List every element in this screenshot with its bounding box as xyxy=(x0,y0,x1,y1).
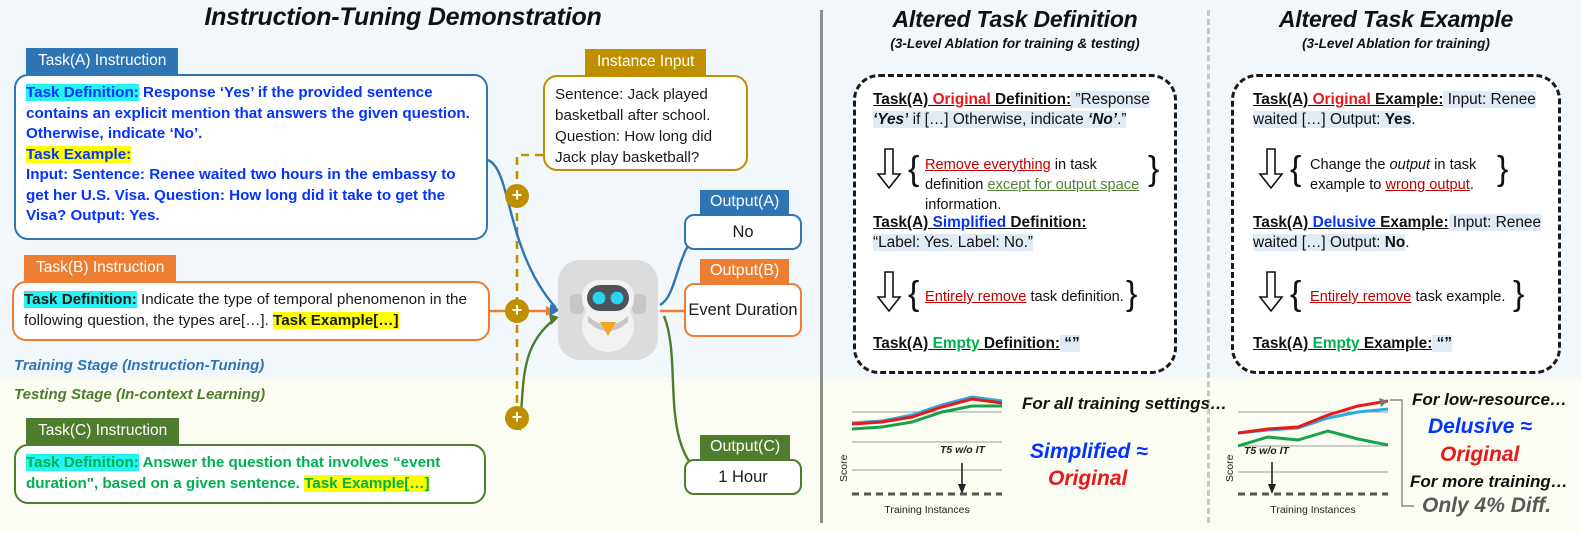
example-op-2-a: Entirely remove xyxy=(1310,289,1411,305)
example-chart-xlabel: Training Instances xyxy=(1238,504,1388,516)
definition-op-1: Remove everything in task definition exc… xyxy=(925,155,1149,215)
task-a-input-label: Input: xyxy=(26,166,68,183)
example-arrow-2-icon xyxy=(1258,271,1284,318)
output-a-tab: Output(A) xyxy=(700,190,789,215)
panel-divider-2 xyxy=(1207,10,1210,523)
task-a-card: Task Definition: Response ‘Yes’ if the p… xyxy=(14,74,488,240)
example-panel-subtitle: (3-Level Ablation for training) xyxy=(1215,36,1577,51)
example-op-1-a: Change the xyxy=(1310,157,1390,173)
definition-op-2-b: task definition. xyxy=(1026,289,1123,305)
definition-op-2: Entirely remove task definition. xyxy=(925,287,1135,307)
definition-level-1: Task(A) Original Definition: ”Response ‘… xyxy=(873,90,1165,130)
output-b-tab: Output(B) xyxy=(700,259,789,284)
definition-level-2-quote: “Label: Yes. Label: No.” xyxy=(873,234,1033,251)
definition-level-2-prefix: Task(A) xyxy=(873,214,933,231)
task-c-card: Task Definition: Answer the question tha… xyxy=(14,444,486,504)
definition-arrow-1-icon xyxy=(876,148,902,195)
output-b-box: Event Duration xyxy=(684,283,802,337)
definition-panel-title: Altered Task Definition xyxy=(828,6,1202,33)
task-a-yes: ‘Yes’ xyxy=(220,84,254,101)
definition-level-3-suffix: Definition: xyxy=(980,335,1060,352)
definition-op-1-a: Remove everything xyxy=(925,157,1051,173)
example-level-1: Task(A) Original Example: Input: Renee w… xyxy=(1253,90,1549,130)
definition-level-2-suffix: Definition: xyxy=(1006,214,1086,231)
example-conclusion-line-1: For low-resource… xyxy=(1412,390,1567,410)
robot-model-icon xyxy=(556,258,660,362)
definition-level-1-quote-e: .” xyxy=(1117,111,1126,128)
example-level-3-prefix: Task(A) xyxy=(1253,335,1313,352)
definition-op-2-a: Entirely remove xyxy=(925,289,1026,305)
example-level-2-keyword: Delusive xyxy=(1313,214,1376,231)
example-level-3: Task(A) Empty Example: “” xyxy=(1253,334,1549,354)
example-level-1-suffix: Example: xyxy=(1371,91,1444,108)
example-level-3-keyword: Empty xyxy=(1313,335,1360,352)
plus-node-b[interactable]: + xyxy=(505,299,529,323)
instance-input-tab: Instance Input xyxy=(585,49,706,75)
definition-level-1-suffix: Definition: xyxy=(991,91,1071,108)
definition-level-2: Task(A) Simplified Definition: “Label: Y… xyxy=(873,213,1165,253)
example-panel-title: Altered Task Example xyxy=(1215,6,1577,33)
example-op-1-b: output xyxy=(1390,157,1431,173)
definition-level-2-keyword: Simplified xyxy=(933,214,1007,231)
definition-level-1-quote-c: if […] Otherwise, indicate xyxy=(908,111,1088,128)
instance-input-text: Sentence: Jack played basketball after s… xyxy=(555,86,712,166)
example-level-1-quote-b: Yes xyxy=(1385,111,1412,128)
task-a-tab: Task(A) Instruction xyxy=(26,48,178,74)
task-a-output-label: Output: xyxy=(70,207,125,224)
definition-conclusion-line-1: For all training settings… xyxy=(1022,394,1227,414)
example-conclusion-word-2: Original xyxy=(1440,443,1519,467)
example-level-1-keyword: Original xyxy=(1313,91,1371,108)
definition-level-3-keyword: Empty xyxy=(933,335,980,352)
example-op-1: Change the output in task example to wro… xyxy=(1310,155,1500,195)
example-op-2: Entirely remove task example. xyxy=(1310,287,1520,307)
definition-brace-2-left: { xyxy=(908,277,919,311)
task-a-example-label: Task Example: xyxy=(26,146,131,163)
task-b-tab: Task(B) Instruction xyxy=(24,255,176,281)
definition-conclusion-word-2: Original xyxy=(1048,467,1127,491)
output-c-tab: Output(C) xyxy=(700,435,790,460)
definition-chart: Score T5 w/o IT Training Instances xyxy=(836,390,1014,520)
output-c-box: 1 Hour xyxy=(684,459,802,495)
definition-brace-1-right: } xyxy=(1148,152,1159,186)
definition-brace-1-left: { xyxy=(908,152,919,186)
definition-level-3-quote: “” xyxy=(1060,335,1080,352)
example-chart-annotation: T5 w/o IT xyxy=(1244,445,1289,457)
example-brace-1-left: { xyxy=(1290,152,1301,186)
definition-level-3: Task(A) Empty Definition: “” xyxy=(873,334,1165,354)
definition-panel-subtitle: (3-Level Ablation for training & testing… xyxy=(828,36,1202,51)
output-a-box: No xyxy=(684,214,802,250)
definition-chart-ylabel: Score xyxy=(838,455,850,482)
task-a-definition-text-1: Response xyxy=(139,84,220,101)
example-op-1-d: wrong output xyxy=(1385,177,1469,193)
example-conclusion-word-1: Delusive ≈ xyxy=(1428,415,1532,439)
definition-level-3-prefix: Task(A) xyxy=(873,335,933,352)
plus-node-c[interactable]: + xyxy=(505,406,529,430)
example-level-1-quote-c: . xyxy=(1411,111,1415,128)
example-arrow-1-icon xyxy=(1258,148,1284,195)
task-a-definition-label: Task Definition: xyxy=(26,84,139,101)
task-a-definition-text-3: . xyxy=(198,125,202,142)
example-brace-2-left: { xyxy=(1290,277,1301,311)
definition-conclusion-word-1: Simplified ≈ xyxy=(1030,440,1148,464)
example-chart-ylabel: Score xyxy=(1224,455,1236,482)
instance-input-card: Sentence: Jack played basketball after s… xyxy=(543,75,748,171)
definition-arrow-2-icon xyxy=(876,271,902,318)
example-level-2-suffix: Example: xyxy=(1376,214,1449,231)
example-level-2-prefix: Task(A) xyxy=(1253,214,1313,231)
task-b-example-label: Task Example[…] xyxy=(273,312,398,329)
example-conclusion-line-2: For more training… xyxy=(1410,472,1568,492)
panel-divider-1 xyxy=(820,10,823,523)
task-b-definition-label: Task Definition: xyxy=(24,291,137,308)
example-level-1-prefix: Task(A) xyxy=(1253,91,1313,108)
task-a-output-text: Yes. xyxy=(125,207,159,224)
definition-level-1-prefix: Task(A) xyxy=(873,91,933,108)
example-level-3-quote: “” xyxy=(1432,335,1452,352)
definition-op-1-c: except for output space xyxy=(987,177,1139,193)
definition-level-1-quote-a: ”Response xyxy=(1071,91,1150,108)
definition-chart-xlabel: Training Instances xyxy=(852,504,1002,516)
definition-level-1-quote-b: ‘Yes’ xyxy=(873,111,908,128)
example-level-3-suffix: Example: xyxy=(1360,335,1433,352)
example-level-2: Task(A) Delusive Example: Input: Renee w… xyxy=(1253,213,1549,253)
task-b-card: Task Definition: Indicate the type of te… xyxy=(12,281,490,341)
task-c-definition-label: Task Definition: xyxy=(26,454,139,471)
example-level-2-quote-c: . xyxy=(1405,234,1409,251)
definition-op-1-d: information. xyxy=(925,197,1001,213)
example-op-2-b: task example. xyxy=(1411,289,1505,305)
example-level-2-quote-b: No xyxy=(1385,234,1406,251)
example-chart: Score T5 w/o IT Training Instances xyxy=(1222,390,1400,520)
task-c-tab: Task(C) Instruction xyxy=(26,418,179,444)
definition-level-1-quote-d: ‘No’ xyxy=(1088,111,1117,128)
definition-chart-annotation: T5 w/o IT xyxy=(940,444,985,456)
task-c-example-label: Task Example[…] xyxy=(304,475,429,492)
plus-node-a[interactable]: + xyxy=(505,184,529,208)
definition-level-1-keyword: Original xyxy=(933,91,991,108)
task-a-no: ‘No’ xyxy=(169,125,198,142)
example-op-1-e: . xyxy=(1470,177,1474,193)
example-conclusion-word-3: Only 4% Diff. xyxy=(1422,494,1551,518)
